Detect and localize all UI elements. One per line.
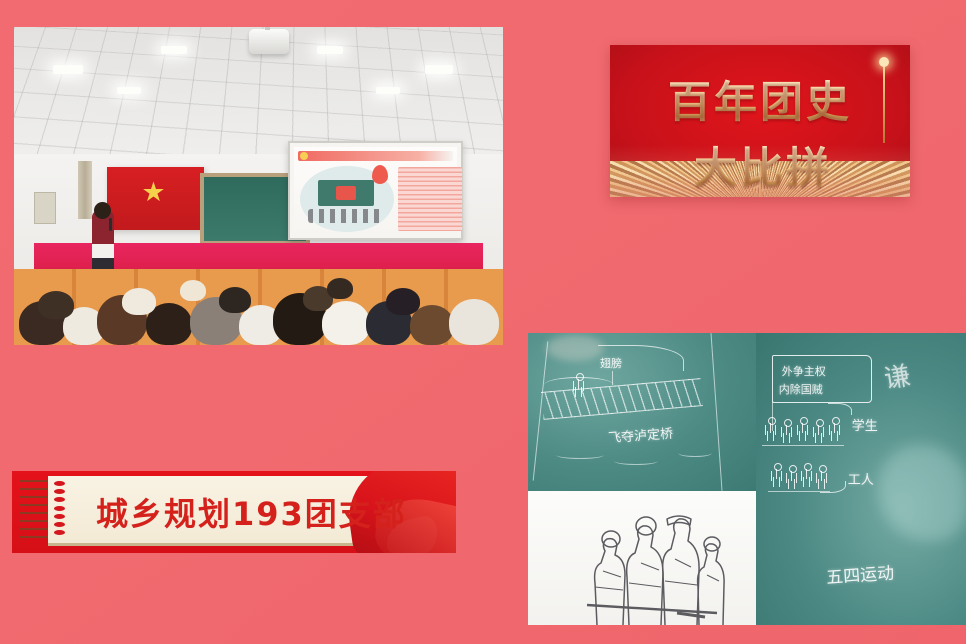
- ceiling-lamp: [53, 65, 83, 74]
- slide-header-bar: [298, 151, 453, 161]
- chalk-stick-figure: [800, 463, 813, 479]
- page-background: 百年团史 大比拼 翅膀 飞夺泸定桥: [0, 0, 966, 644]
- chalk-arrow-curve: [820, 481, 846, 493]
- slide-mini-blackboard: [318, 180, 374, 206]
- curtain: [78, 161, 92, 219]
- ceiling-lamp: [117, 87, 141, 94]
- chalk-label-qian: 谦: [881, 355, 912, 396]
- chalk-label-luding: 飞夺泸定桥: [607, 423, 673, 446]
- chalk-stick-figure: [770, 463, 783, 479]
- poster-headline-1: 百年团史: [610, 68, 910, 130]
- luding-bridge-panel: 翅膀 飞夺泸定桥: [528, 333, 756, 491]
- chalk-water-wave: [614, 457, 658, 465]
- ceiling-lamp: [161, 46, 187, 54]
- audience-crowd: [14, 218, 503, 345]
- ceiling-lamp: [425, 65, 453, 74]
- chalk-erase-smudge: [878, 445, 966, 541]
- classroom-photo: [14, 27, 503, 345]
- audience-head: [180, 280, 206, 301]
- chalk-protest-flag: 外争主权 内除国贼: [772, 355, 872, 403]
- chalk-label-sovereignty: 外争主权: [782, 363, 826, 379]
- chalk-stick-figure: [796, 417, 809, 433]
- audience-head: [410, 305, 454, 345]
- audience-head: [219, 287, 251, 313]
- audience-head: [122, 288, 156, 315]
- chalk-stick-figure: [812, 419, 825, 435]
- chalkboard-collage: 翅膀 飞夺泸定桥: [528, 333, 966, 625]
- chalk-frame-line: [710, 333, 722, 491]
- may-fourth-panel: 外争主权 内除国贼 谦 学生 工人: [756, 333, 966, 625]
- ceiling-lamp: [317, 46, 343, 54]
- projector-icon: [249, 29, 289, 54]
- chalk-water-wave: [678, 449, 712, 457]
- chalk-water-wave: [556, 451, 604, 459]
- chalk-stick-figure: [780, 419, 793, 435]
- chalk-smudge: [546, 335, 604, 361]
- poster-banner: 百年团史 大比拼: [610, 45, 910, 197]
- soldiers-sketch-panel: [528, 491, 756, 625]
- banner-spiral-binding-icon: [20, 480, 48, 544]
- audience-head: [386, 288, 420, 315]
- chalk-stick-figure: [572, 373, 585, 389]
- soldiers-sketch-icon: [557, 501, 727, 625]
- title-banner: 城乡规划193团支部: [12, 471, 452, 553]
- chalk-stick-figure: [815, 465, 828, 481]
- presenter-head: [94, 202, 111, 219]
- chalk-label-traitors: 内除国贼: [779, 381, 823, 397]
- slide-balloon-icon: [372, 165, 388, 184]
- ceiling-lamp: [376, 87, 400, 94]
- banner-title-text: 城乡规划193团支部: [96, 471, 407, 553]
- chalk-ground-line: [762, 445, 844, 446]
- chalk-stick-figure: [764, 417, 777, 433]
- chalk-label-workers: 工人: [848, 469, 874, 488]
- audience-head: [449, 299, 499, 345]
- banner-punch-holes-icon: [54, 481, 66, 543]
- chalk-arrow-curve: [598, 345, 684, 371]
- classroom-scene: [14, 27, 503, 345]
- audience-head: [327, 278, 353, 299]
- chalk-label-students: 学生: [852, 415, 878, 434]
- chalk-stick-figure: [828, 417, 841, 433]
- chalk-stick-figure: [785, 465, 798, 481]
- chalk-label-may-fourth: 五四运动: [825, 559, 895, 589]
- poster-headline-2: 大比拼: [610, 134, 910, 196]
- audience-head: [38, 291, 74, 319]
- chalk-arrow-curve: [828, 403, 852, 415]
